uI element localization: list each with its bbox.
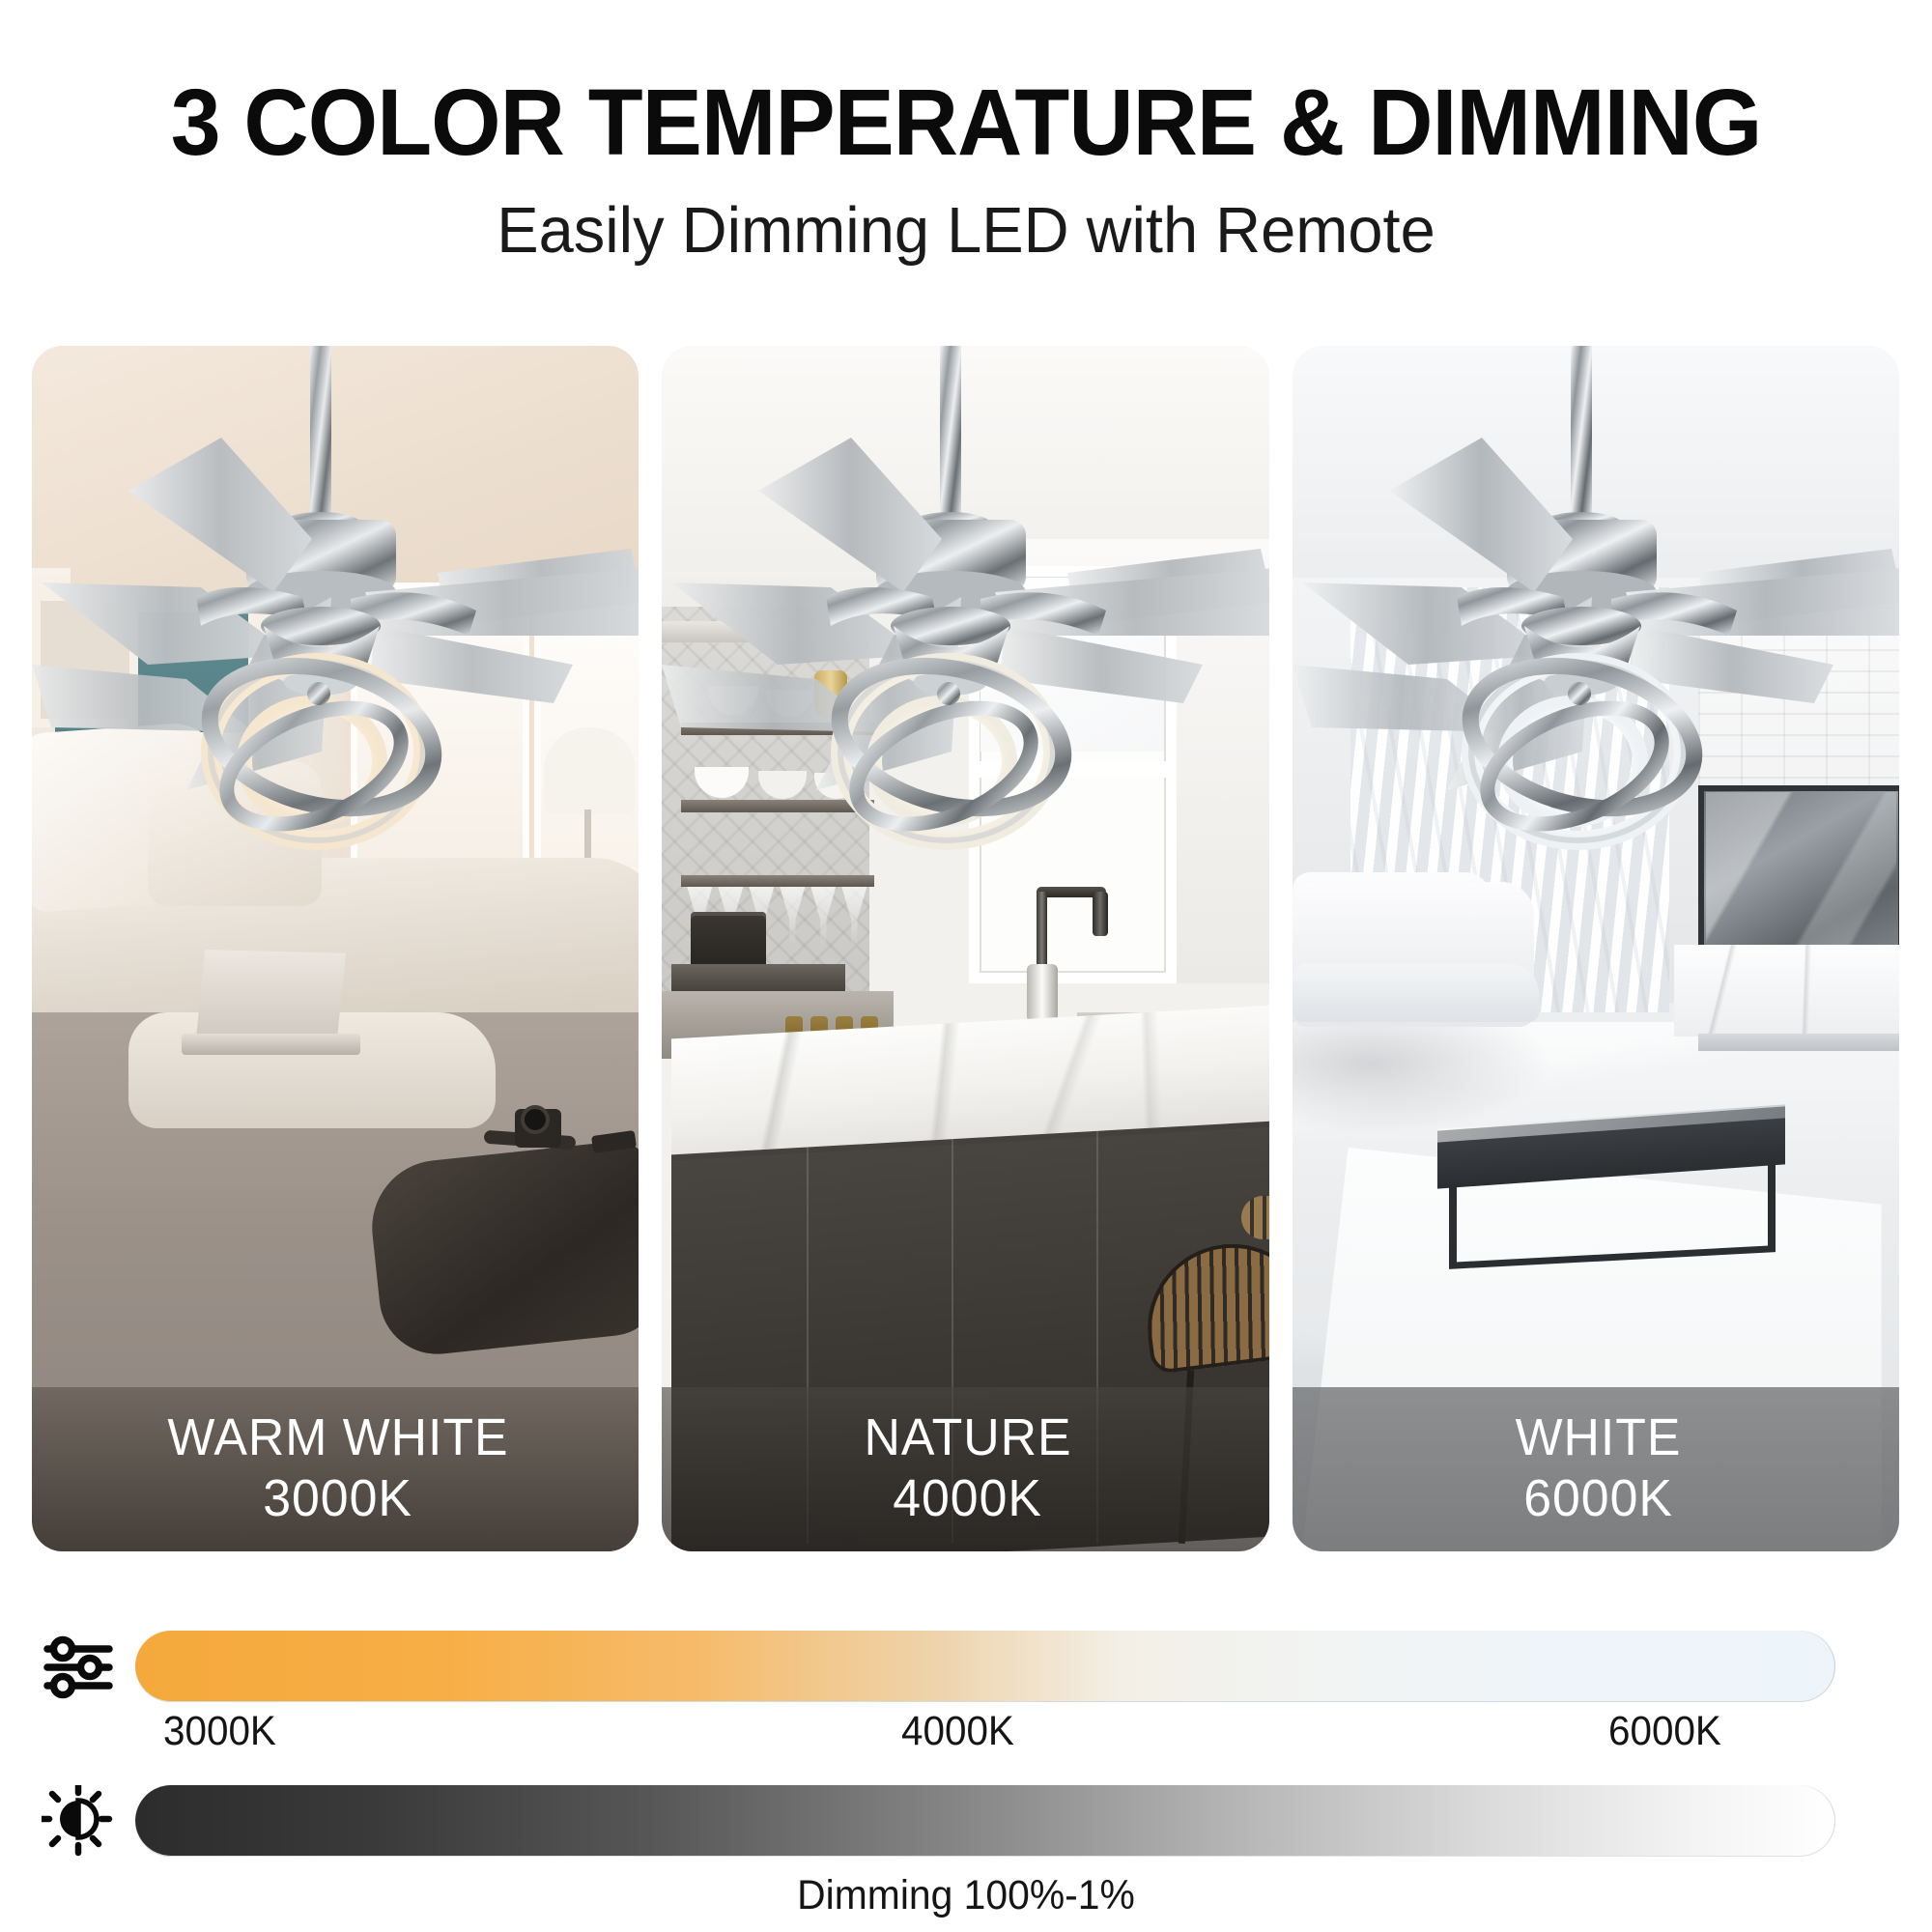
dimming-slider[interactable] bbox=[135, 1785, 1835, 1857]
page-title: 3 COLOR TEMPERATURE & DIMMING bbox=[39, 0, 1893, 169]
panel-nature[interactable]: NATURE 4000K bbox=[662, 346, 1268, 1551]
panel-label-white: WHITE 6000K bbox=[1293, 1387, 1899, 1551]
page-subtitle: Easily Dimming LED with Remote bbox=[29, 169, 1903, 263]
tick-4000k: 4000K bbox=[901, 1708, 1014, 1755]
sliders-icon bbox=[42, 1631, 115, 1704]
dimming-caption: Dimming 100%-1% bbox=[48, 1872, 1884, 1919]
panel-white[interactable]: WHITE 6000K bbox=[1293, 346, 1899, 1551]
panel-label-name: NATURE bbox=[864, 1410, 1071, 1464]
panel-label-nature: NATURE 4000K bbox=[662, 1387, 1268, 1551]
panel-label-kelvin: 6000K bbox=[1523, 1470, 1673, 1527]
color-temperature-row: 3000K 4000K 6000K bbox=[32, 1631, 1899, 1742]
ceiling-fan-nature bbox=[662, 346, 1268, 964]
color-temperature-ticks: 3000K 4000K 6000K bbox=[135, 1708, 1835, 1754]
header: 3 COLOR TEMPERATURE & DIMMING Easily Dim… bbox=[0, 0, 1932, 263]
color-temperature-slider[interactable] bbox=[135, 1631, 1835, 1702]
panel-label-warm-white: WARM WHITE 3000K bbox=[32, 1387, 639, 1551]
infographic-page: 3 COLOR TEMPERATURE & DIMMING Easily Dim… bbox=[0, 0, 1932, 1932]
ceiling-fan-white bbox=[1293, 346, 1899, 964]
tick-6000k: 6000K bbox=[1608, 1708, 1721, 1755]
ceiling-fan-warm bbox=[32, 346, 639, 964]
slider-section: 3000K 4000K 6000K bbox=[0, 1584, 1932, 1932]
panel-label-kelvin: 3000K bbox=[263, 1470, 412, 1527]
panel-label-kelvin: 4000K bbox=[893, 1470, 1042, 1527]
panel-row: WARM WHITE 3000K bbox=[32, 346, 1899, 1551]
panel-warm-white[interactable]: WARM WHITE 3000K bbox=[32, 346, 639, 1551]
panel-label-name: WHITE bbox=[1515, 1410, 1681, 1464]
brightness-icon bbox=[42, 1785, 115, 1859]
tick-3000k: 3000K bbox=[163, 1708, 276, 1755]
panel-label-name: WARM WHITE bbox=[167, 1410, 508, 1464]
